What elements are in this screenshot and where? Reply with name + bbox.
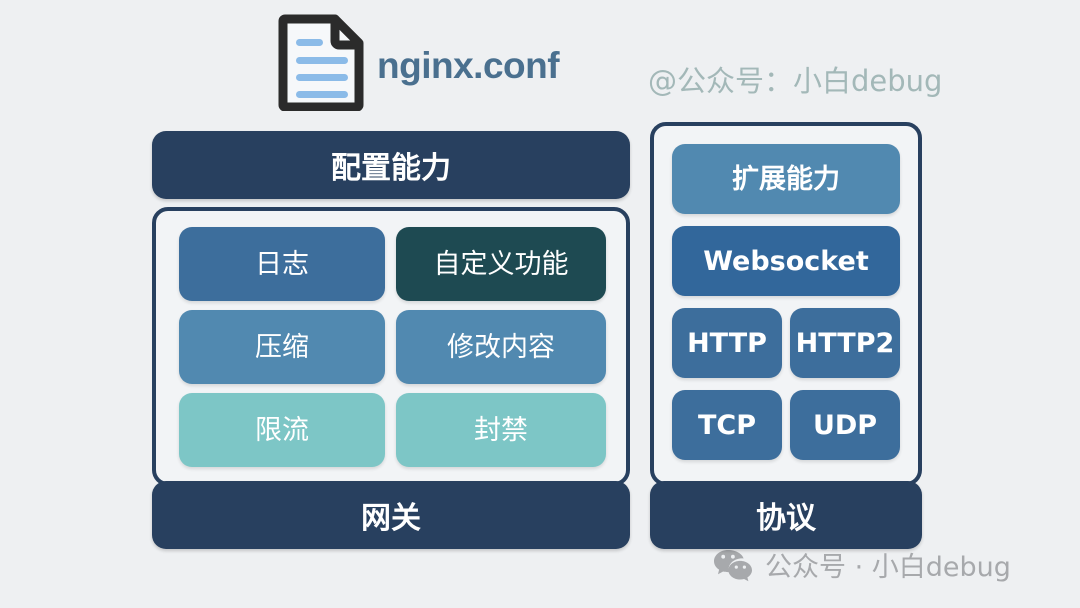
tile-websocket[interactable]: Websocket bbox=[672, 226, 900, 296]
watermark-bottom: 公众号 · 小白debug bbox=[713, 545, 1011, 584]
tile-tcp[interactable]: TCP bbox=[672, 390, 782, 460]
tile-extensibility[interactable]: 扩展能力 bbox=[672, 144, 900, 214]
watermark-top: @公众号：小白debug bbox=[648, 58, 942, 100]
watermark-bottom-text: 公众号 · 小白debug bbox=[765, 545, 1011, 584]
tile-compress[interactable]: 压缩 bbox=[179, 310, 385, 384]
tile-modify-content[interactable]: 修改内容 bbox=[396, 310, 606, 384]
tile-custom-function[interactable]: 自定义功能 bbox=[396, 227, 606, 301]
right-panel-bottom-bar: 协议 bbox=[650, 481, 922, 549]
left-panel-bottom-bar: 网关 bbox=[152, 481, 630, 549]
wechat-icon bbox=[713, 548, 753, 582]
tile-log[interactable]: 日志 bbox=[179, 227, 385, 301]
tile-rate-limit[interactable]: 限流 bbox=[179, 393, 385, 467]
tile-udp[interactable]: UDP bbox=[790, 390, 900, 460]
left-panel-top-bar: 配置能力 bbox=[152, 131, 630, 199]
page-title: nginx.conf bbox=[377, 45, 559, 87]
tile-http[interactable]: HTTP bbox=[672, 308, 782, 378]
header: nginx.conf @公众号：小白debug bbox=[0, 0, 1080, 118]
document-icon bbox=[277, 13, 365, 111]
tile-http2[interactable]: HTTP2 bbox=[790, 308, 900, 378]
tile-ban[interactable]: 封禁 bbox=[396, 393, 606, 467]
